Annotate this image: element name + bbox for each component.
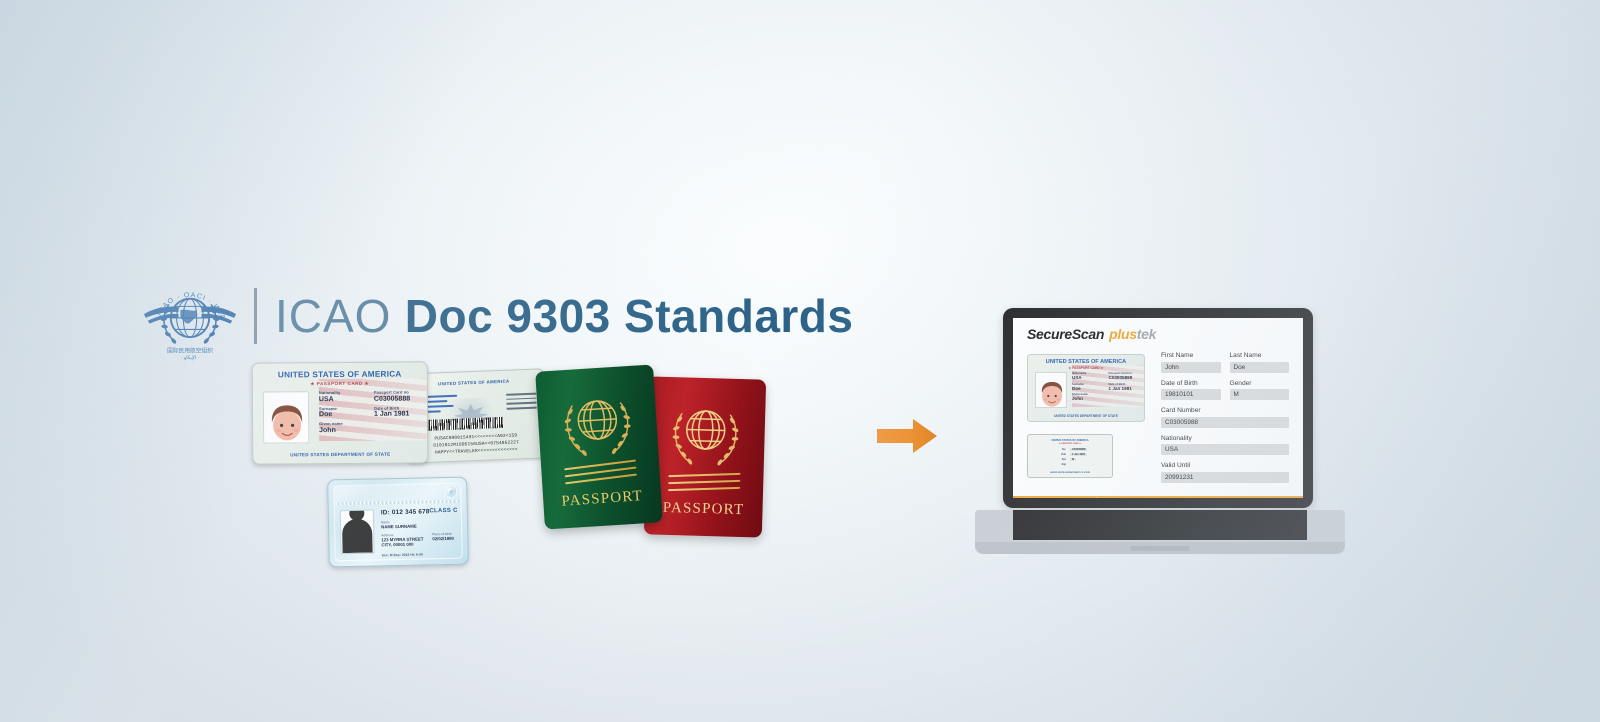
page-background: ICAO · OACI · ИКАО 国际民用航空组织 · الإيكاو · … (0, 0, 1600, 722)
app-logo-plus: plus (1109, 326, 1137, 342)
field-gender: Gender M (1230, 380, 1290, 401)
orange-right-arrow-icon (877, 418, 937, 454)
globe-wreath-emblem-icon (667, 397, 745, 469)
field-label-card-no: Passport Card no (374, 389, 421, 394)
scanned-card-footer: UNITED STATES DEPARTMENT OF STATE (1028, 414, 1144, 418)
scanned-card-back-preview[interactable]: UNITED STATES OF AMERICA ★ PASSPORT CARD… (1027, 434, 1113, 478)
id-card: ID: 012 345 678 CLASS C Name NAME SURNAM… (327, 477, 469, 568)
scanned-back-value-1: 1 Jan 1981 (1070, 453, 1087, 456)
globe-wreath-emblem-icon (557, 386, 637, 461)
label-first-name: First Name (1161, 352, 1221, 359)
scan-value-given-name: John (1072, 396, 1104, 401)
scanned-back-type: ★ PASSPORT CARD ★ (1028, 443, 1112, 445)
field-last-name: Last Name Doe (1230, 352, 1290, 373)
id-card-number: ID: 012 345 678 (381, 508, 430, 516)
scan-value-surname: Doe (1072, 386, 1104, 391)
passport-booklets-group: PASSPORT (540, 368, 780, 548)
scan-value-nationality: USA (1072, 375, 1104, 380)
save-button[interactable]: Save (1159, 496, 1304, 499)
gray-data-lines (506, 393, 537, 413)
scanned-card-type: ★ PASSPORT CARD ★ (1028, 366, 1144, 370)
id-card-name-block: Name NAME SURNAME (381, 520, 417, 530)
id-card-address-block: Address 123 MYRRA STREET CITY, 00001 000 (381, 532, 423, 547)
input-card-number[interactable]: C03005988 (1161, 417, 1289, 428)
input-last-name[interactable]: Doe (1230, 362, 1290, 373)
id-card-dob-value: 02/02/1980 (432, 536, 454, 541)
input-gender[interactable]: M (1230, 389, 1290, 400)
field-date-of-birth: Date of Birth 19810101 (1161, 380, 1221, 401)
scanned-back-key-0: No. (1052, 448, 1066, 451)
laptop-mockup: SecureScanplustek UNITED STATES OF AMERI… (975, 308, 1345, 568)
headline-block: ICAO · OACI · ИКАО 国际民用航空组织 · الإيكاو · … (142, 268, 854, 364)
id-card-name-value: NAME SURNAME (381, 524, 417, 530)
portrait-photo (263, 391, 309, 443)
icao-logo: ICAO · OACI · ИКАО 国际民用航空组织 · الإيكاو · (142, 268, 238, 364)
label-last-name: Last Name (1230, 352, 1290, 359)
passport-card-type: ★ PASSPORT CARD ★ (253, 380, 427, 387)
field-label-nationality: Nationality (319, 390, 366, 395)
scanned-back-key-3: Exp (1052, 463, 1066, 466)
scanned-back-value-0: C03005888 (1070, 448, 1087, 451)
field-value-dob: 1 Jan 1981 (374, 410, 421, 417)
passport-green-label: PASSPORT (543, 487, 662, 512)
scan-value-dob: 1 Jan 1981 (1109, 386, 1141, 391)
field-valid-until: Valid Until 20991231 (1161, 462, 1289, 483)
field-value-given-name: John (319, 426, 366, 433)
app-action-bar: Cancel Save (1013, 496, 1303, 499)
field-value-nationality: USA (319, 395, 366, 402)
page-title: ICAO Doc 9303 Standards (275, 293, 854, 339)
scanned-card-country: UNITED STATES OF AMERICA (1028, 359, 1144, 365)
field-card-number: Card Number C03005988 (1161, 407, 1289, 428)
field-first-name: First Name John (1161, 352, 1221, 373)
label-card-number: Card Number (1161, 407, 1289, 414)
scanned-back-key-2: Sex (1052, 458, 1066, 461)
app-logo: SecureScanplustek (1027, 326, 1156, 342)
scanned-back-footer: UNITED STATES DEPARTMENT OF STATE (1028, 472, 1112, 474)
passport-green: PASSPORT (535, 364, 663, 529)
field-label-dob: Date of Birth (374, 405, 421, 410)
scanned-back-value-2: M (1070, 458, 1076, 461)
app-logo-primary: SecureScan (1027, 326, 1104, 342)
svg-text:· الإيكاو ·: · الإيكاو · (181, 355, 200, 361)
field-value-card-no: C03005888 (374, 395, 421, 402)
scan-preview-column: UNITED STATES OF AMERICA ★ PASSPORT CARD… (1027, 330, 1151, 490)
id-card-class: CLASS C (429, 508, 458, 515)
id-card-footer: Sex: M Exp: 2042 Ht: 6-00 (382, 552, 423, 557)
passport-card-country: UNITED STATES OF AMERICA (253, 369, 427, 379)
laptop-trackpad-notch (1130, 546, 1190, 551)
scanned-back-key-1: Dob (1052, 453, 1066, 456)
field-nationality: Nationality USA (1161, 435, 1289, 456)
id-card-dob-block: Place of birth 02/02/1980 (432, 532, 454, 541)
id-card-address-value2: CITY, 00001 000 (381, 541, 423, 547)
passport-gold-bars (668, 473, 741, 496)
id-card-photo (340, 510, 375, 555)
extracted-data-form: First Name John Last Name Doe (1161, 330, 1289, 490)
app-logo-tek: tek (1137, 326, 1156, 342)
field-value-surname: Doe (319, 411, 366, 418)
label-date-of-birth: Date of Birth (1161, 380, 1221, 387)
passport-card-front: UNITED STATES OF AMERICA ★ PASSPORT CARD… (252, 361, 429, 464)
label-valid-until: Valid Until (1161, 462, 1289, 469)
laptop-screen: SecureScanplustek UNITED STATES OF AMERI… (1013, 318, 1303, 498)
page-title-bold: Doc 9303 Standards (405, 290, 854, 342)
field-label-given-name: Given name (319, 421, 366, 426)
scanned-card-fields: Nationality USA Passport Card no C030058… (1072, 371, 1140, 403)
passport-gold-bars (564, 460, 637, 490)
label-nationality: Nationality (1161, 435, 1289, 442)
input-valid-until[interactable]: 20991231 (1161, 472, 1289, 483)
passport-card-fields: Nationality USA Passport Card no C030058… (319, 389, 421, 436)
app-body: UNITED STATES OF AMERICA ★ PASSPORT CARD… (1013, 318, 1303, 496)
input-date-of-birth[interactable]: 19810101 (1161, 389, 1221, 400)
laptop-base (975, 510, 1345, 554)
scanned-portrait-photo (1035, 372, 1067, 408)
svg-text:国际民用航空组织: 国际民用航空组织 (167, 346, 213, 354)
securescan-app: SecureScanplustek UNITED STATES OF AMERI… (1013, 318, 1303, 498)
laptop-base-front (975, 542, 1345, 554)
field-label-surname: Surname (319, 405, 366, 410)
cancel-button[interactable]: Cancel (1013, 496, 1158, 499)
laptop-keyboard-area (1013, 510, 1307, 540)
scan-value-card-no: C03005888 (1109, 375, 1141, 380)
scanned-back-country: UNITED STATES OF AMERICA (1028, 439, 1112, 442)
laptop-lid: SecureScanplustek UNITED STATES OF AMERI… (1003, 308, 1313, 508)
passport-card-footer: UNITED STATES DEPARTMENT OF STATE (253, 451, 427, 457)
scanned-card-front-preview[interactable]: UNITED STATES OF AMERICA ★ PASSPORT CARD… (1027, 354, 1145, 422)
label-gender: Gender (1230, 380, 1290, 387)
input-first-name[interactable]: John (1161, 362, 1221, 373)
document-samples-group: UNITED STATES OF AMERICA PUSAC000015491<… (250, 362, 550, 572)
input-nationality[interactable]: USA (1161, 444, 1289, 455)
scanned-back-rows: No. C03005888 Dob 1 Jan 1981 Sex (1052, 448, 1107, 468)
person-silhouette-icon (342, 519, 373, 554)
title-divider (254, 288, 257, 344)
page-title-light: ICAO (275, 290, 391, 342)
